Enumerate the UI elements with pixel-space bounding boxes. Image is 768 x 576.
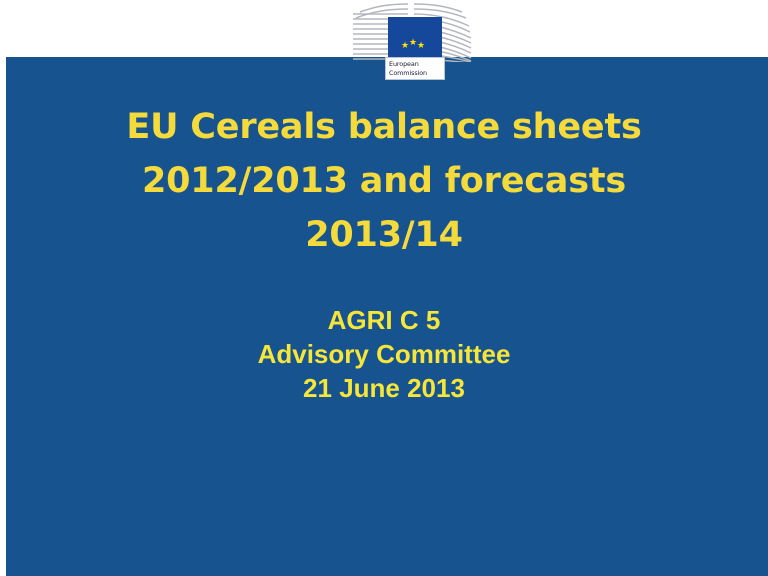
slide-title: EU Cereals balance sheets 2012/2013 and … [0,100,768,262]
title-line-2: 2012/2013 and forecasts [0,154,768,208]
european-commission-logo: ★ ★ ★ European Commission [350,0,472,82]
logo-wordmark: European Commission [385,57,445,80]
eu-flag-stars: ★ ★ ★ [388,17,442,58]
star-icon: ★ [417,41,425,50]
logo-wordmark-line2: Commission [389,69,444,78]
star-icon: ★ [409,38,417,47]
logo-wordmark-line1: European [389,60,444,69]
subtitle-line-3: 21 June 2013 [0,371,768,405]
presentation-slide: ★ ★ ★ European Commission EU Cereals bal… [0,0,768,576]
star-icon: ★ [401,41,409,50]
title-line-1: EU Cereals balance sheets [0,100,768,154]
eu-flag-icon: ★ ★ ★ [388,17,442,58]
title-line-3: 2013/14 [0,208,768,262]
subtitle-line-2: Advisory Committee [0,337,768,371]
subtitle-line-1: AGRI C 5 [0,303,768,337]
slide-subtitle: AGRI C 5 Advisory Committee 21 June 2013 [0,303,768,405]
